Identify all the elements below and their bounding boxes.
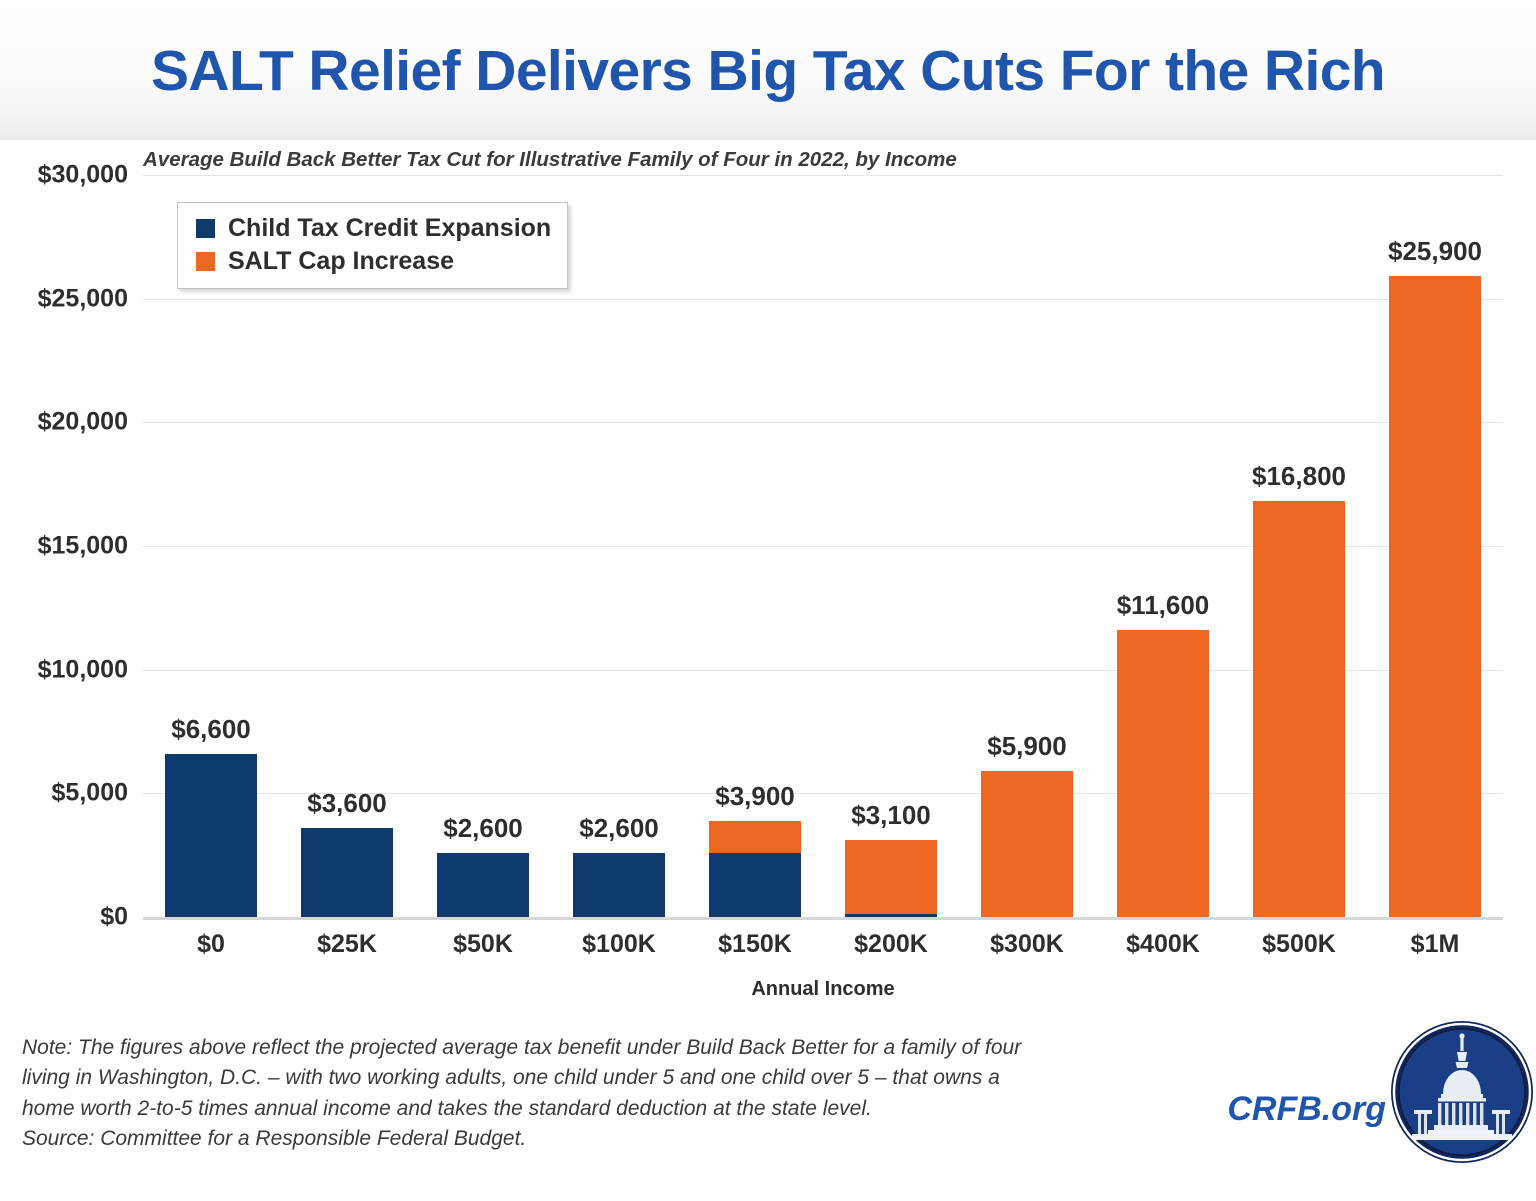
chart-subtitle: Average Build Back Better Tax Cut for Il… [143, 148, 957, 172]
bar-value-label-400K: $11,600 [1063, 590, 1263, 621]
footnote-source-line: Source: Committee for a Responsible Fede… [22, 1124, 1162, 1154]
bar-group-1M[interactable]: $25,900 [1389, 276, 1481, 917]
x-axis-baseline [143, 917, 1503, 920]
gridline-25000 [143, 299, 1503, 300]
bar-segment-salt-cap-increase[interactable] [709, 821, 801, 853]
bar-value-label-200K: $3,100 [791, 800, 991, 831]
bar-segment-child-tax-credit[interactable] [573, 853, 665, 917]
bar-group-400K[interactable]: $11,600 [1117, 630, 1209, 917]
y-axis-tick-5: $25,000 [38, 284, 128, 313]
bar-segment-salt-cap-increase[interactable] [1253, 501, 1345, 917]
x-axis-title: Annual Income [143, 978, 1503, 1001]
capitol-dome-seal-icon [1388, 1018, 1536, 1166]
legend-label-1: SALT Cap Increase [228, 247, 454, 276]
bar-segment-child-tax-credit[interactable] [301, 828, 393, 917]
bar-group-150K[interactable]: $3,900 [709, 821, 801, 917]
bar-group-200K[interactable]: $3,100 [845, 840, 937, 917]
bar-group-0[interactable]: $6,600 [165, 754, 257, 917]
crfb-logo[interactable]: CRFB.org [1196, 1012, 1516, 1172]
footnote-line-1: Note: The figures above reflect the proj… [22, 1033, 1162, 1063]
y-axis-tick-1: $5,000 [52, 779, 128, 808]
bar-segment-salt-cap-increase[interactable] [845, 840, 937, 914]
y-axis-tick-3: $15,000 [38, 532, 128, 561]
bar-value-label-1M: $25,900 [1335, 236, 1535, 267]
footnote-line-3: home worth 2-to-5 times annual income an… [22, 1094, 1162, 1124]
bar-group-100K[interactable]: $2,600 [573, 853, 665, 917]
y-axis-tick-2: $10,000 [38, 655, 128, 684]
legend-label-0: Child Tax Credit Expansion [228, 214, 551, 243]
footnote: Note: The figures above reflect the proj… [22, 1033, 1162, 1155]
bar-segment-child-tax-credit[interactable] [709, 853, 801, 917]
bar-value-label-500K: $16,800 [1199, 461, 1399, 492]
y-axis-tick-4: $20,000 [38, 408, 128, 437]
bar-group-500K[interactable]: $16,800 [1253, 501, 1345, 917]
crfb-logo-text: CRFB.org [1196, 1090, 1386, 1129]
legend-item-0[interactable]: Child Tax Credit Expansion [196, 212, 551, 245]
bar-segment-salt-cap-increase[interactable] [1117, 630, 1209, 917]
bar-value-label-100K: $2,600 [519, 813, 719, 844]
bar-segment-child-tax-credit[interactable] [437, 853, 529, 917]
legend-item-1[interactable]: SALT Cap Increase [196, 245, 551, 278]
bar-segment-salt-cap-increase[interactable] [1389, 276, 1481, 917]
bar-segment-child-tax-credit[interactable] [165, 754, 257, 917]
gridline-30000 [143, 175, 1503, 176]
bar-value-label-300K: $5,900 [927, 731, 1127, 762]
bar-segment-salt-cap-increase[interactable] [981, 771, 1073, 917]
bar-group-300K[interactable]: $5,900 [981, 771, 1073, 917]
y-axis-tick-6: $30,000 [38, 161, 128, 190]
y-axis-tick-0: $0 [100, 903, 128, 932]
bar-value-label-0: $6,600 [111, 714, 311, 745]
chart-legend[interactable]: Child Tax Credit ExpansionSALT Cap Incre… [177, 202, 568, 289]
bar-group-50K[interactable]: $2,600 [437, 853, 529, 917]
bar-group-25K[interactable]: $3,600 [301, 828, 393, 917]
page-title: SALT Relief Delivers Big Tax Cuts For th… [0, 38, 1536, 104]
legend-swatch-icon-0 [196, 219, 215, 238]
footnote-line-2: living in Washington, D.C. – with two wo… [22, 1063, 1162, 1093]
gridline-20000 [143, 422, 1503, 423]
x-axis-tick-1M: $1M [1335, 930, 1535, 959]
legend-swatch-icon-1 [196, 252, 215, 271]
